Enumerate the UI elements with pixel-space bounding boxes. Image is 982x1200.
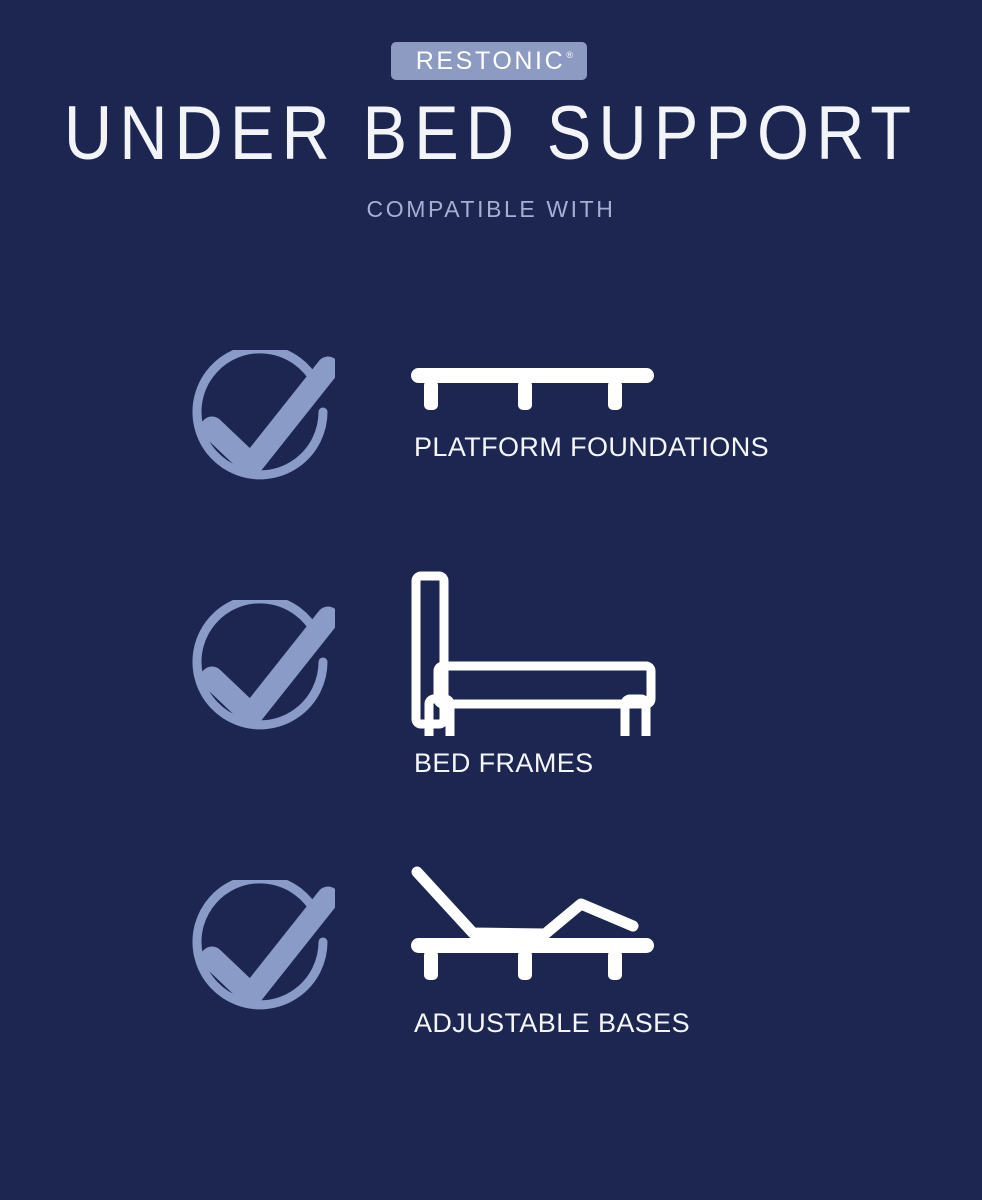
check-circle-icon <box>185 350 335 500</box>
feature-label: PLATFORM FOUNDATIONS <box>414 432 769 463</box>
feature-label: BED FRAMES <box>414 748 594 779</box>
feature-row: PLATFORM FOUNDATIONS <box>0 338 982 538</box>
feature-row: ADJUSTABLE BASES <box>0 860 982 1060</box>
feature-row: BED FRAMES <box>0 530 982 730</box>
brand-name: RESTONIC <box>413 49 566 74</box>
check-circle-icon <box>185 600 335 750</box>
under-bed-support-infographic: RESTONIC ® UNDER BED SUPPORT COMPATIBLE … <box>0 0 982 1200</box>
brand-logo-badge: RESTONIC ® <box>391 42 587 80</box>
feature-label: ADJUSTABLE BASES <box>414 1008 690 1039</box>
page-subtitle: COMPATIBLE WITH <box>0 195 982 223</box>
page-title: UNDER BED SUPPORT <box>59 96 923 172</box>
bed-frame-icon <box>405 536 665 736</box>
check-circle-icon <box>185 880 335 1030</box>
platform-foundation-icon <box>405 352 665 418</box>
registered-trademark-icon: ® <box>566 51 573 60</box>
adjustable-base-icon <box>405 860 665 985</box>
